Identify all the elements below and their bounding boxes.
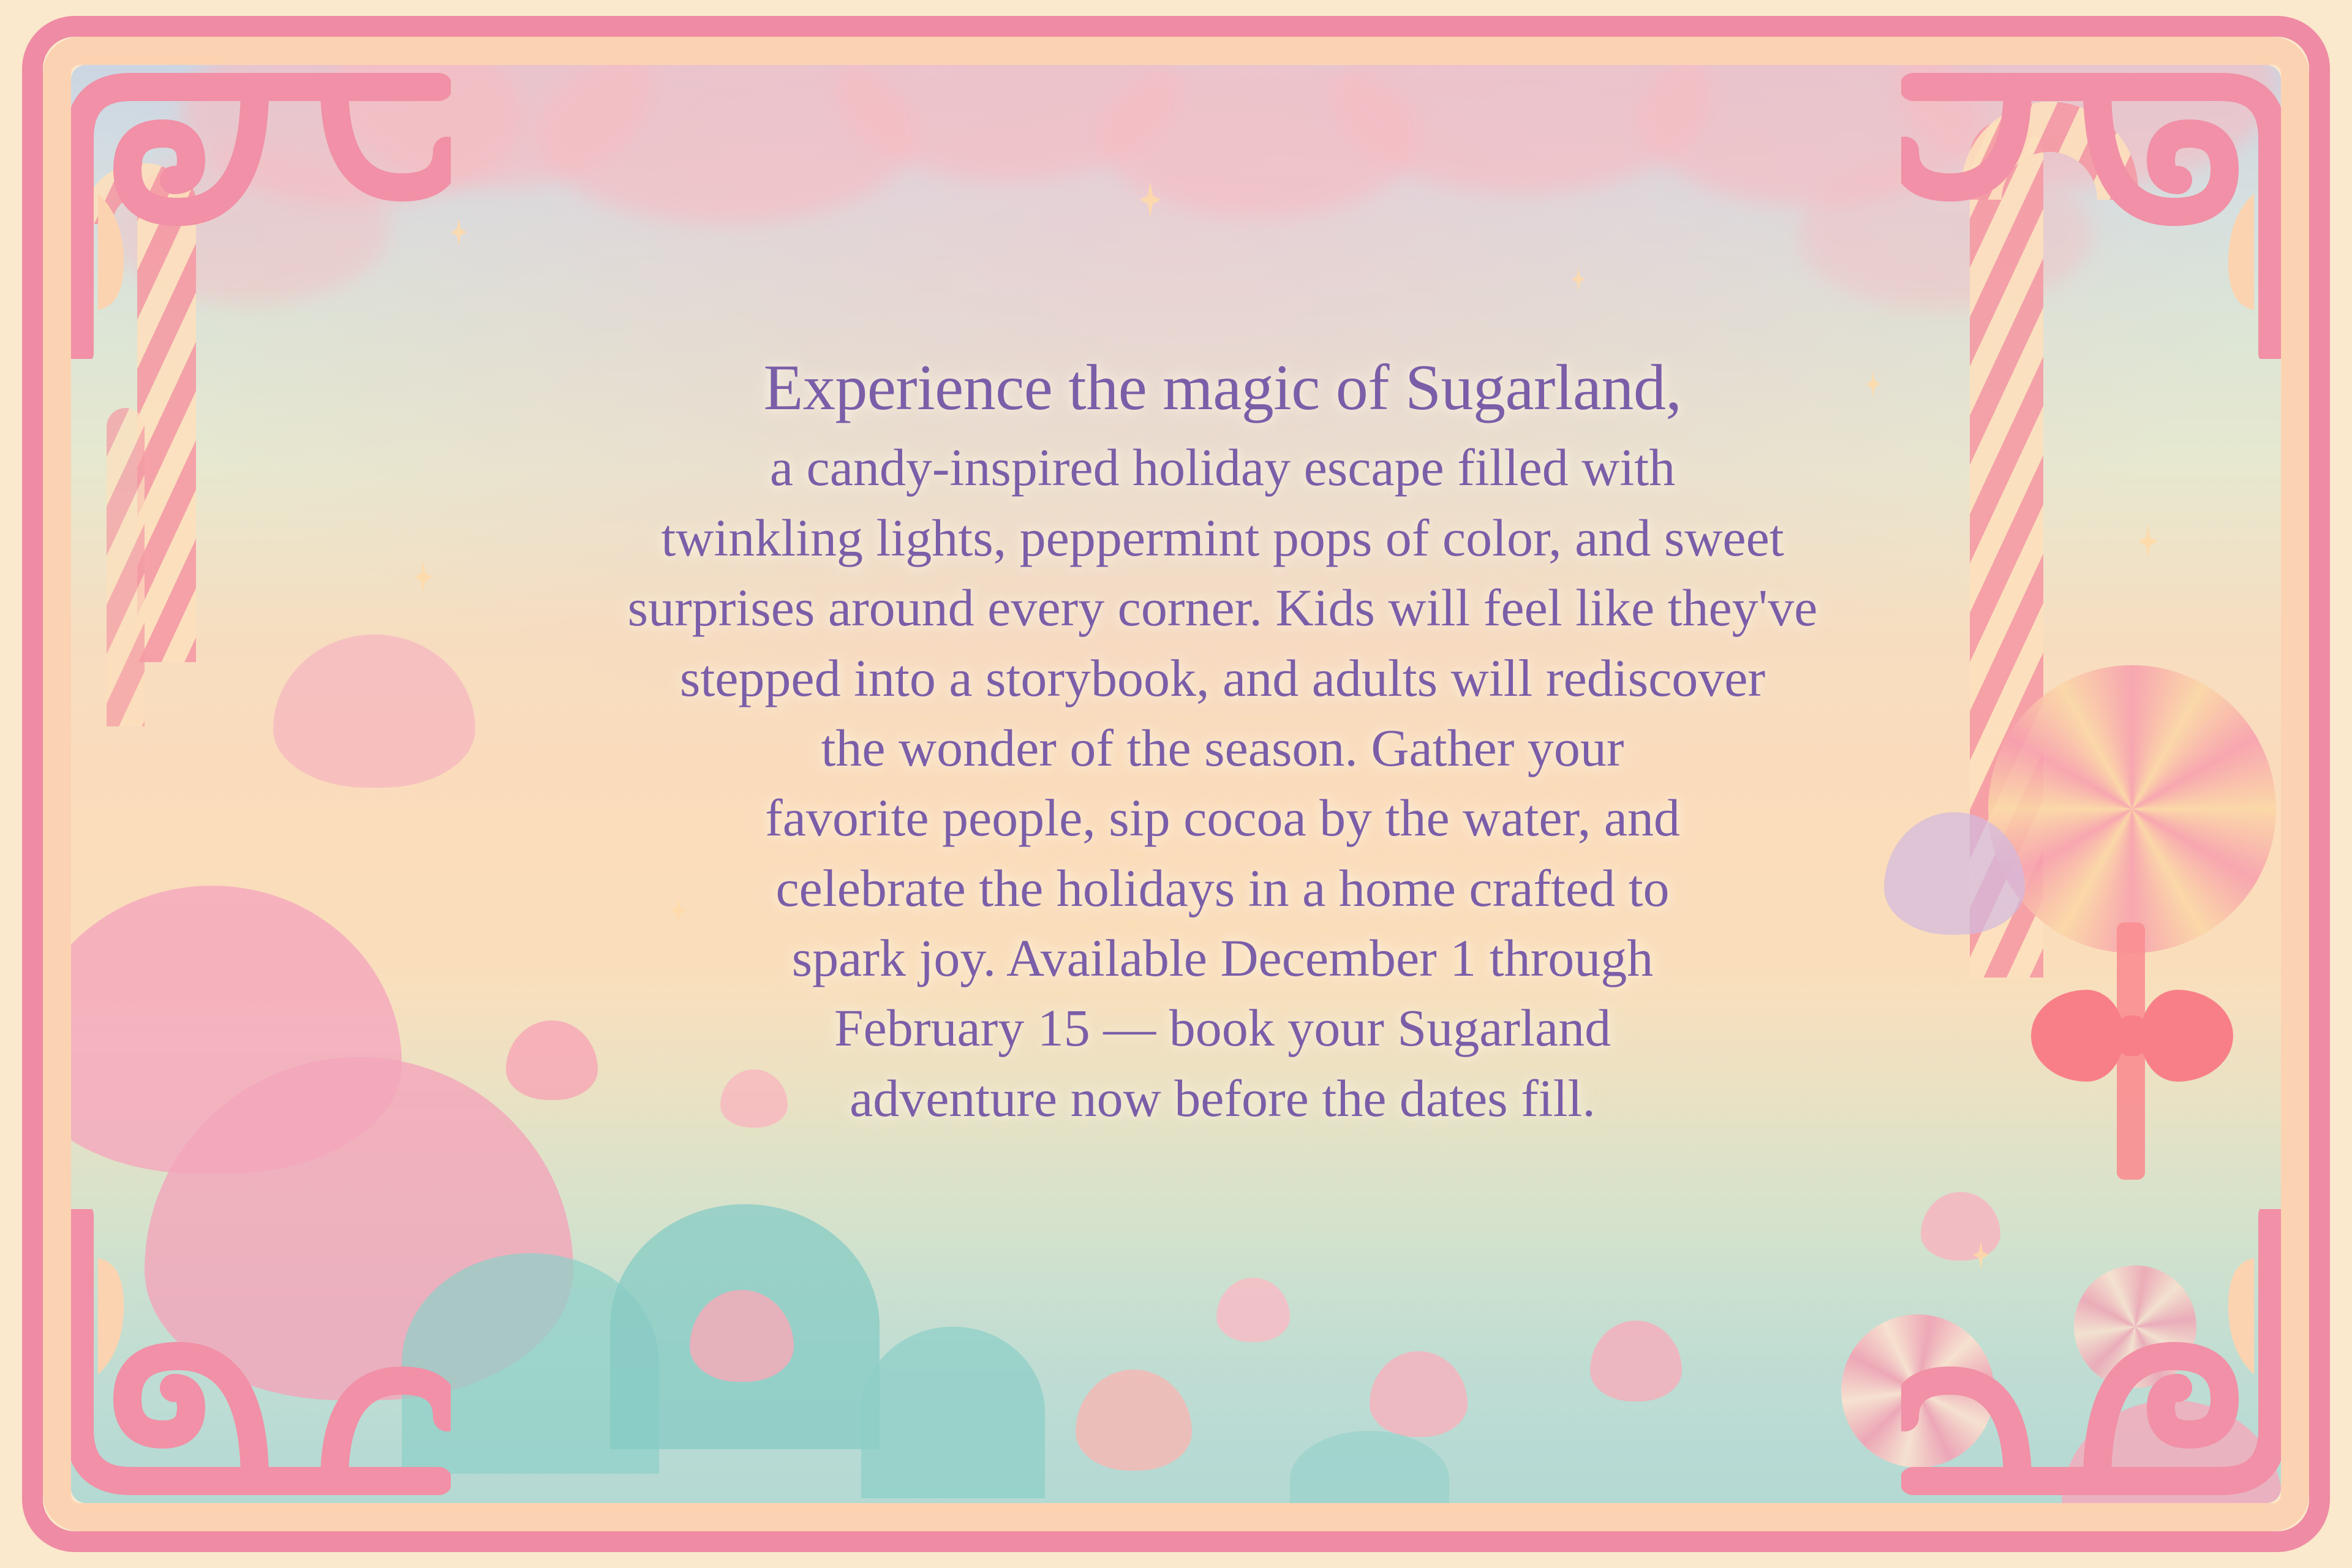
- poster-body-line: celebrate the holidays in a home crafted…: [396, 853, 2049, 923]
- poster-body-line: adventure now before the dates fill.: [396, 1063, 2049, 1133]
- poster-body-line: stepped into a storybook, and adults wil…: [396, 643, 2049, 713]
- poster-body-line: surprises around every corner. Kids will…: [396, 573, 2049, 643]
- poster-headline: Experience the magic of Sugarland,: [396, 353, 2049, 423]
- poster-body-line: the wonder of the season. Gather your: [396, 713, 2049, 783]
- poster-body-line: twinkling lights, peppermint pops of col…: [396, 503, 2049, 573]
- poster-card: Experience the magic of Sugarland, a can…: [0, 0, 2352, 1568]
- marketing-copy-block: Experience the magic of Sugarland, a can…: [396, 353, 2049, 1133]
- poster-body-line: spark joy. Available December 1 through: [396, 923, 2049, 993]
- poster-body-line: favorite people, sip cocoa by the water,…: [396, 783, 2049, 853]
- poster-body-line: a candy-inspired holiday escape filled w…: [396, 432, 2049, 502]
- poster-body-line: February 15 — book your Sugarland: [396, 993, 2049, 1063]
